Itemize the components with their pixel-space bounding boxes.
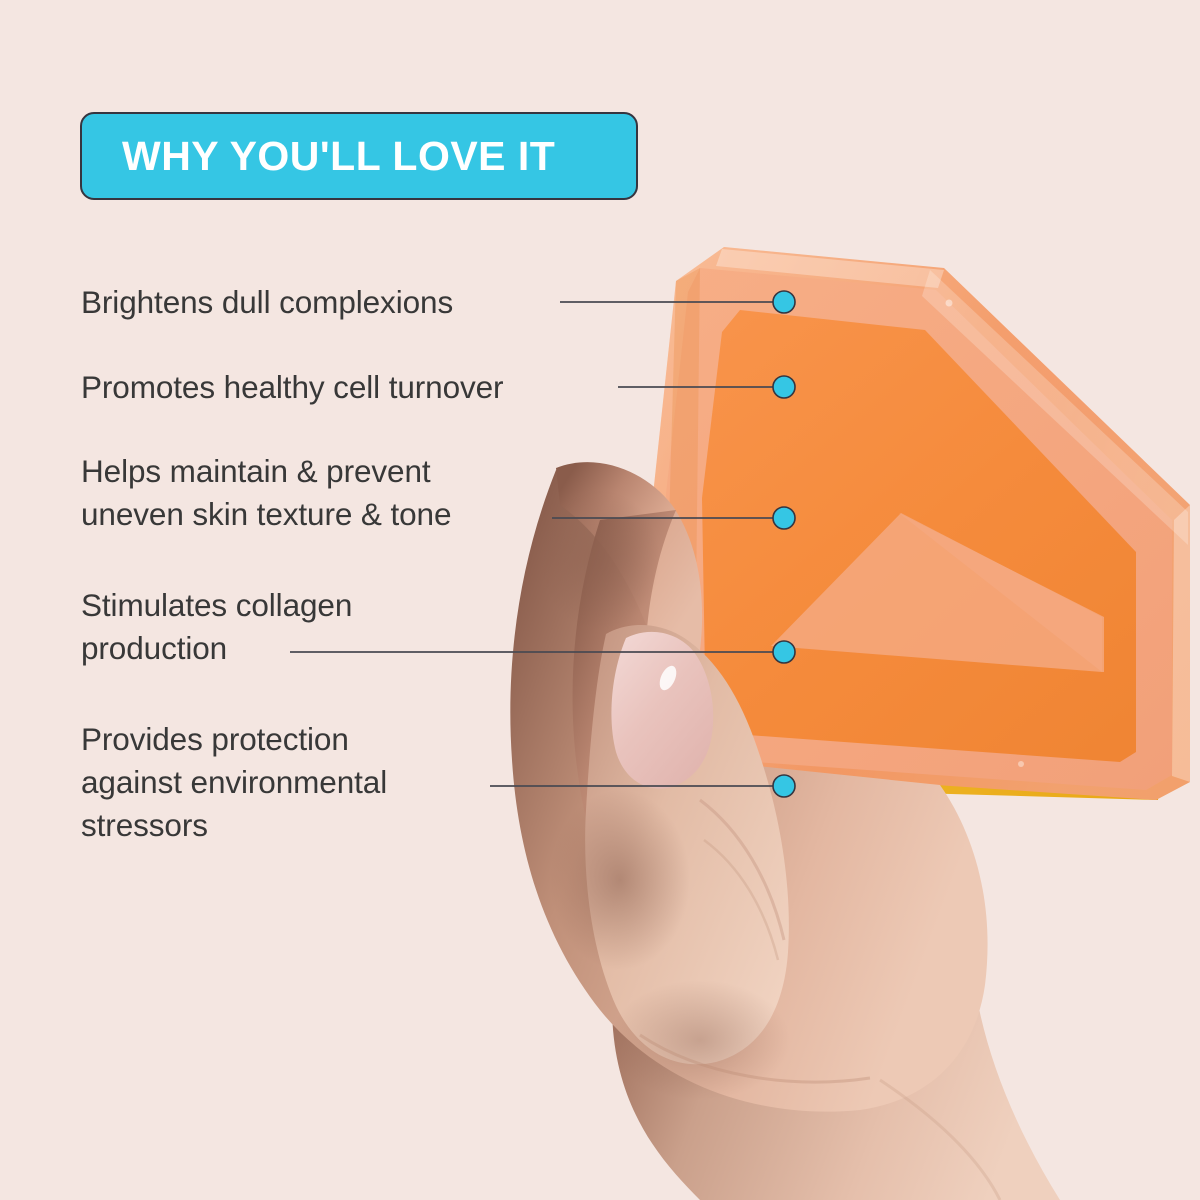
benefit-text-5: Provides protection against environmenta… <box>81 718 387 847</box>
why-youll-love-it-badge: WHY YOU'LL LOVE IT <box>80 112 638 200</box>
badge-label: WHY YOU'LL LOVE IT <box>122 136 555 177</box>
benefit-text-4: Stimulates collagen production <box>81 584 352 670</box>
benefit-text-2: Promotes healthy cell turnover <box>81 366 503 409</box>
benefit-text-3: Helps maintain & prevent uneven skin tex… <box>81 450 451 536</box>
infographic-canvas: WHY YOU'LL LOVE IT Brightens dull comple… <box>0 0 1200 1200</box>
benefit-text-1: Brightens dull complexions <box>81 281 453 324</box>
